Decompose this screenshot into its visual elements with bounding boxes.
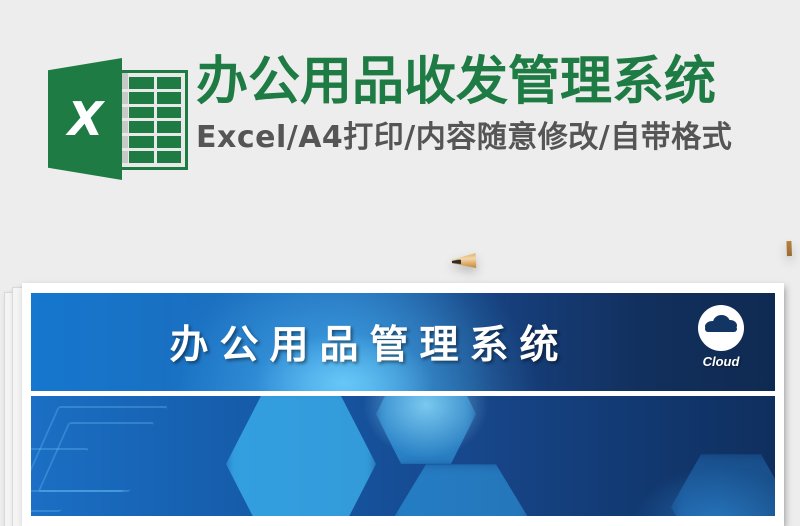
glow-highlight-1 [361,396,491,460]
document-banner: 办公用品管理系统 Cloud [31,293,775,391]
cloud-icon [698,305,744,351]
glow-highlight-2 [631,466,775,516]
document-preview-stack: 办公用品管理系统 Cloud [0,280,800,526]
cloud-glyph [705,315,737,330]
cloud-logo-label: Cloud [685,354,757,369]
document-body-graphic [31,396,775,516]
promo-text-block: 办公用品收发管理系统 Excel/A4打印/内容随意修改/自带格式 [196,52,796,158]
pencil-end [786,241,792,256]
excel-logo: X [48,58,188,180]
hexagon-shape-1 [226,396,376,516]
hexagon-shape-3 [391,462,531,516]
promo-subtitle: Excel/A4打印/内容随意修改/自带格式 [196,118,796,158]
excel-logo-sheet-cells [129,77,181,163]
cloud-logo: Cloud [685,305,757,379]
promo-header: X 办公用品收发管理系统 Excel/A4打印/内容随意修改/自带格式 [0,0,800,270]
document-page: 办公用品管理系统 Cloud [22,283,784,526]
promo-title: 办公用品收发管理系统 [196,52,796,112]
document-banner-title: 办公用品管理系统 [31,314,775,370]
excel-logo-letter: X [48,58,122,180]
